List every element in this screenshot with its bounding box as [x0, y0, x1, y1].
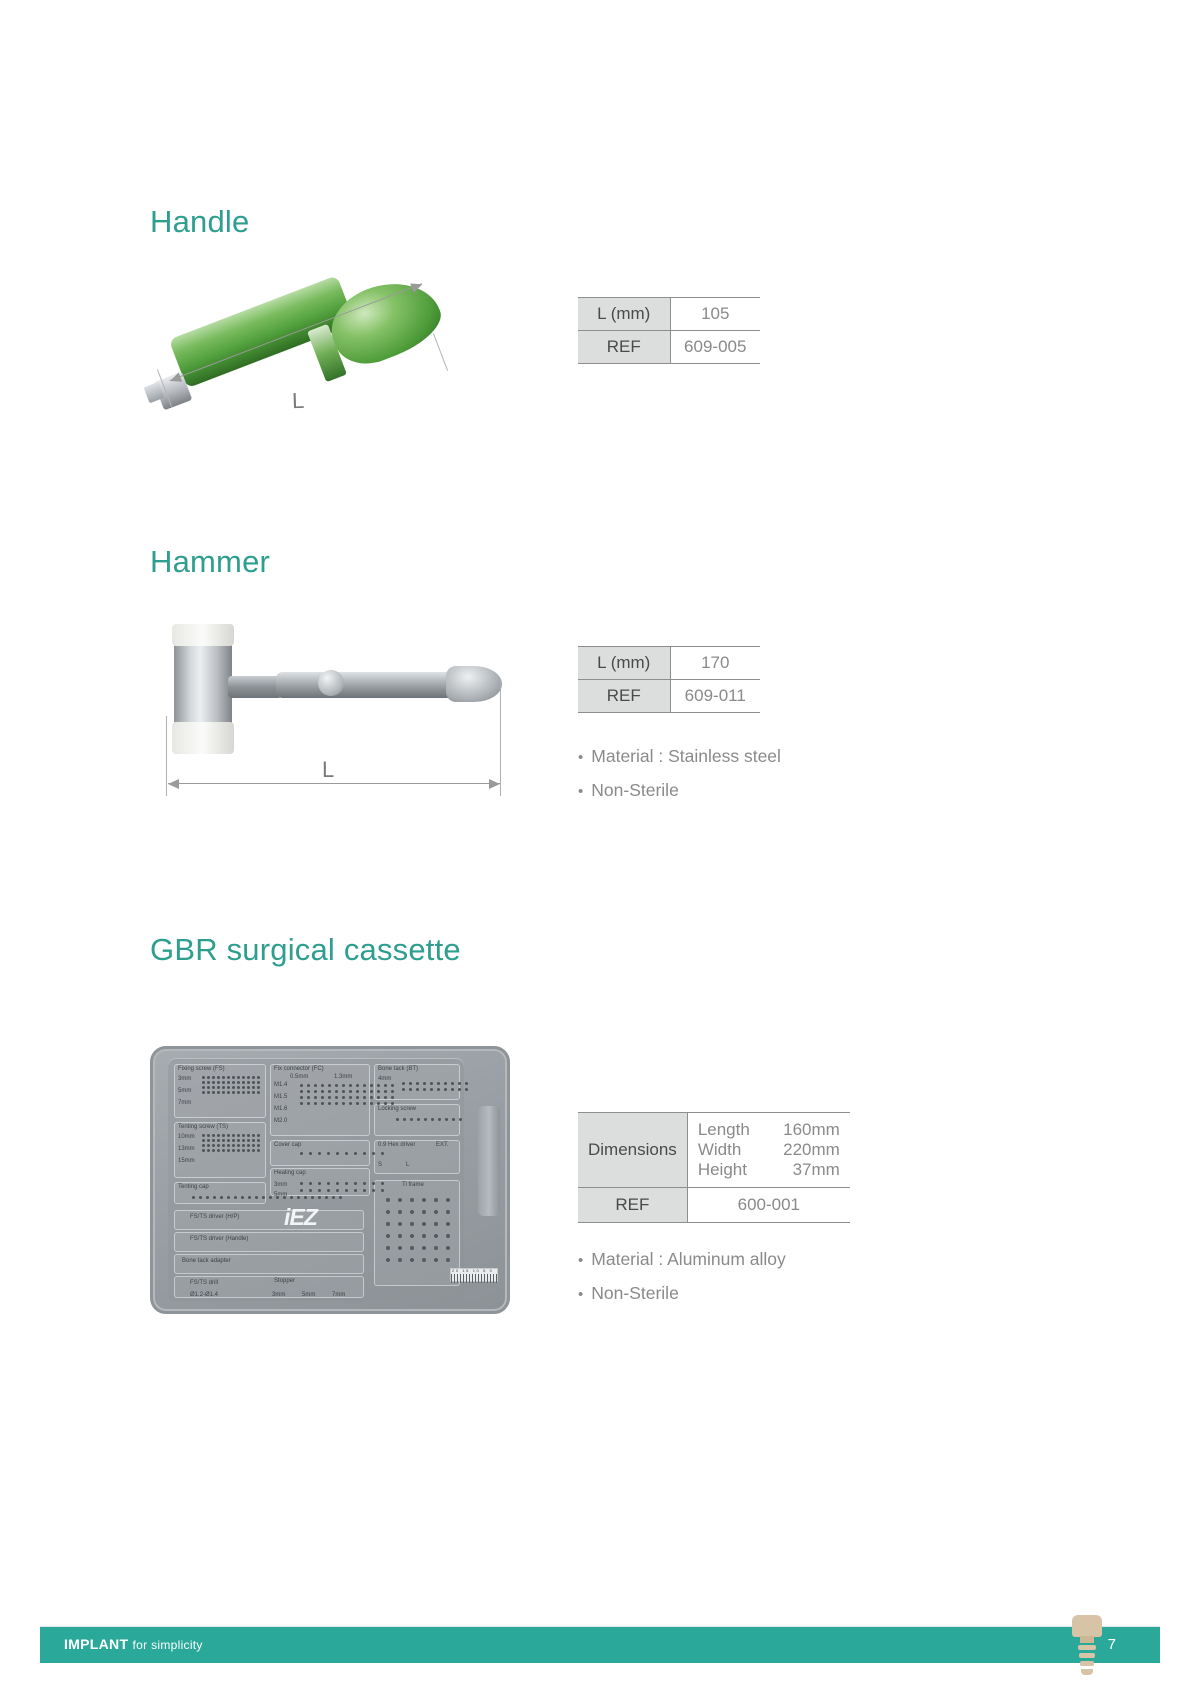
implant-thread	[1081, 1669, 1093, 1675]
hammer-end-cap	[446, 666, 502, 702]
cassette-cover-cap-holes	[300, 1152, 386, 1155]
cassette-label-ext: EXT.	[436, 1142, 449, 1148]
dimension-value: 220mm	[770, 1140, 840, 1160]
cassette-side-handle	[478, 1106, 500, 1216]
hammer-center-knob	[318, 670, 344, 696]
cassette-stopper-7mm: 7mm	[332, 1292, 345, 1298]
dimension-row-height: Height 37mm	[698, 1160, 840, 1180]
page-number: 7	[1108, 1636, 1116, 1653]
cassette-label-driver-hp: FS/TS driver (H/P)	[190, 1214, 239, 1220]
cassette-size-m14: M1.4	[274, 1082, 287, 1088]
hammer-neck	[228, 676, 282, 698]
implant-thread	[1078, 1645, 1096, 1650]
cassette-notes-list: Material : Aluminum alloy Non-Sterile	[578, 1243, 786, 1311]
handle-spec-table: L (mm) 105 REF 609-005	[578, 297, 760, 364]
implant-thread	[1080, 1661, 1094, 1666]
cassette-size-10mm: 13mm	[178, 1146, 195, 1152]
implant-neck	[1080, 1636, 1094, 1643]
cassette-label-bone-tack: Bone tack (BT)	[378, 1066, 418, 1072]
cassette-connector-holes	[300, 1084, 395, 1105]
hammer-notes-list: Material : Stainless steel Non-Sterile	[578, 740, 781, 808]
cassette-label-fix-connector: Fix connector (FC)	[274, 1066, 324, 1072]
cassette-size-drill: Ø1.2-Ø1.4	[190, 1292, 218, 1298]
hammer-face-bottom	[172, 722, 234, 754]
cassette-screw-holes-ts	[202, 1134, 260, 1152]
dimension-label: Length	[698, 1120, 770, 1140]
cassette-label-tenting-screw: Tenting screw (TS)	[178, 1124, 228, 1130]
section-title-hammer: Hammer	[150, 544, 270, 580]
spec-value: 105	[670, 298, 760, 331]
cassette-label-ti-frame: Ti frame	[402, 1182, 424, 1188]
spec-key: L (mm)	[578, 647, 670, 680]
cassette-label-driver-handle: FS/TS driver (Handle)	[190, 1236, 248, 1242]
dimension-value: 37mm	[770, 1160, 840, 1180]
hammer-face-top	[172, 624, 234, 646]
table-row: REF 600-001	[578, 1188, 850, 1223]
spec-value: 609-011	[670, 680, 760, 713]
section-title-cassette: GBR surgical cassette	[150, 932, 461, 968]
cassette-label-drill: FS/TS drill	[190, 1280, 218, 1286]
spec-key: REF	[578, 680, 670, 713]
cassette-label-tenting-cap: Tenting cap	[178, 1184, 209, 1190]
list-item: Material : Aluminum alloy	[578, 1243, 786, 1277]
cassette-size-13mm-b: 1.3mm	[334, 1074, 352, 1080]
cassette-size-7mm-b: 10mm	[178, 1134, 195, 1140]
spec-key: REF	[578, 331, 670, 364]
dimension-row-width: Width 220mm	[698, 1140, 840, 1160]
cassette-size-3mm: 3mm	[178, 1076, 191, 1082]
cassette-size-4mm: 4mm	[378, 1076, 391, 1082]
spec-value: 170	[670, 647, 760, 680]
cassette-label-hex-driver: 0.9 Hex driver	[378, 1142, 415, 1148]
footer-brand: IMPLANT for simplicity	[64, 1636, 203, 1652]
cassette-size-m15: M1.5	[274, 1094, 287, 1100]
spec-key: L (mm)	[578, 298, 670, 331]
cassette-locking-screw-holes	[396, 1118, 463, 1121]
handle-dimension-label: L	[292, 388, 305, 414]
cassette-panel-bone-tack-adapter	[174, 1254, 364, 1274]
cassette-ruler-ticks	[451, 1274, 497, 1283]
spec-value-ref: 600-001	[687, 1188, 850, 1223]
cassette-panel-driver-hp	[174, 1210, 364, 1230]
footer-brand-tagline: for simplicity	[133, 1638, 203, 1652]
cassette-healing-cap-holes	[300, 1182, 386, 1192]
cassette-label-bone-tack-adapter: Bone tack adapter	[182, 1258, 231, 1264]
cassette-size-05mm: 0.5mm	[290, 1074, 308, 1080]
handle-dimension-tick-right	[433, 333, 448, 371]
list-item: Material : Stainless steel	[578, 740, 781, 774]
cassette-panel-driver-handle	[174, 1232, 364, 1252]
hammer-spec-table: L (mm) 170 REF 609-011	[578, 646, 760, 713]
cassette-spec-table: Dimensions Length 160mm Width 220mm Heig…	[578, 1112, 850, 1223]
table-row: REF 609-011	[578, 680, 760, 713]
table-row: Dimensions Length 160mm Width 220mm Heig…	[578, 1113, 850, 1188]
table-row: L (mm) 105	[578, 298, 760, 331]
cassette-tenting-cap-holes	[192, 1196, 342, 1199]
spec-value-dimensions: Length 160mm Width 220mm Height 37mm	[687, 1113, 850, 1188]
cassette-stopper-5mm: 5mm	[302, 1292, 315, 1298]
cassette-bone-tack-holes	[402, 1082, 469, 1091]
cassette-stopper-3mm: 3mm	[272, 1292, 285, 1298]
spec-key-dimensions: Dimensions	[578, 1113, 687, 1188]
implant-crown	[1072, 1615, 1102, 1637]
handle-product-image: L	[140, 280, 470, 465]
footer-brand-main: IMPLANT	[64, 1636, 128, 1652]
cassette-ruler: 20 15 10 5 0	[450, 1268, 498, 1282]
cassette-label-cover-cap: Cover cap	[274, 1142, 301, 1148]
cassette-size-l: L	[406, 1162, 409, 1168]
dimension-label: Width	[698, 1140, 770, 1160]
cassette-brand-logo: iEZ	[284, 1204, 317, 1231]
dimension-value: 160mm	[770, 1120, 840, 1140]
spec-value: 609-005	[670, 331, 760, 364]
cassette-ti-frame-holes	[386, 1198, 450, 1262]
cassette-screw-holes-fs	[202, 1076, 260, 1094]
implant-thread	[1079, 1653, 1095, 1658]
section-title-handle: Handle	[150, 204, 249, 240]
list-item: Non-Sterile	[578, 774, 781, 808]
cassette-ruler-numbers: 20 15 10 5 0	[452, 1268, 493, 1273]
list-item: Non-Sterile	[578, 1277, 786, 1311]
cassette-product-image: Fixing screw (FS) Fix connector (FC) Bon…	[150, 1046, 510, 1314]
cassette-size-7mm: 7mm	[178, 1100, 191, 1106]
table-row: L (mm) 170	[578, 647, 760, 680]
hammer-dimension-arrow	[168, 783, 500, 784]
dental-implant-icon	[1070, 1615, 1104, 1677]
hammer-dimension-label: L	[322, 757, 334, 783]
hammer-dimension-tick-left	[166, 716, 167, 796]
cassette-label-stopper: Stopper	[274, 1278, 295, 1284]
cassette-size-3mm-c: 3mm	[274, 1182, 287, 1188]
cassette-size-13mm: 15mm	[178, 1158, 195, 1164]
cassette-size-5mm: 5mm	[178, 1088, 191, 1094]
cassette-size-m20: M2.0	[274, 1118, 287, 1124]
cassette-size-m16: M1.6	[274, 1106, 287, 1112]
hammer-head	[174, 638, 232, 730]
hammer-dimension-tick-right	[500, 680, 501, 796]
dimension-row-length: Length 160mm	[698, 1120, 840, 1140]
cassette-label-locking-screw: Locking screw	[378, 1106, 416, 1112]
footer-bar: IMPLANT for simplicity 7	[40, 1627, 1160, 1663]
dimension-label: Height	[698, 1160, 770, 1180]
catalog-page: Handle L L (mm) 105 REF 609-005 Hammer	[0, 0, 1200, 1701]
cassette-size-s: S	[378, 1162, 382, 1168]
hammer-product-image: L	[150, 620, 530, 805]
cassette-label-healing-cap: Healing cap	[274, 1170, 306, 1176]
spec-key-ref: REF	[578, 1188, 687, 1223]
cassette-label-fixing-screw: Fixing screw (FS)	[178, 1066, 225, 1072]
table-row: REF 609-005	[578, 331, 760, 364]
